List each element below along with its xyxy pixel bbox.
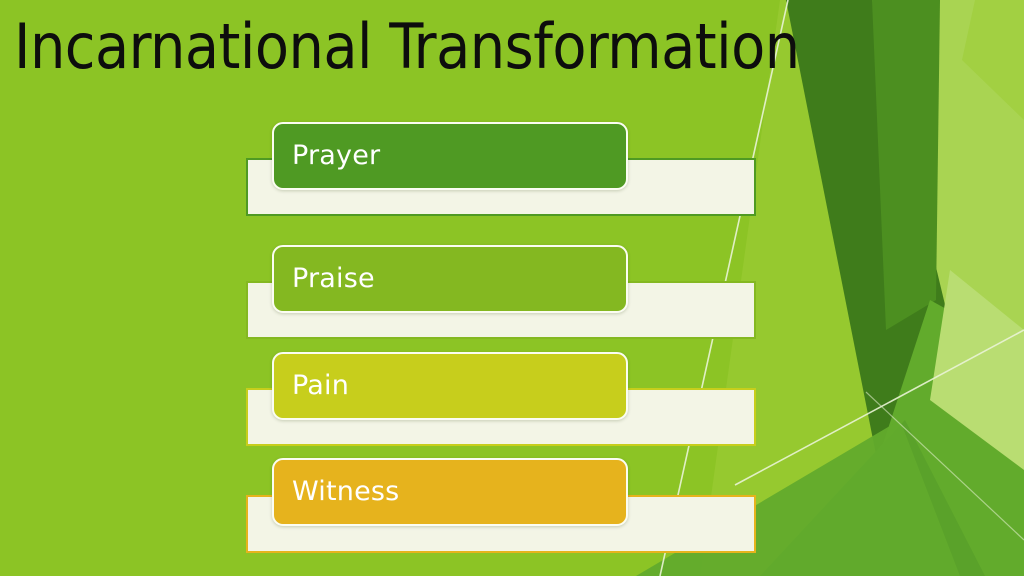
process-step-chip-prayer[interactable]: Prayer: [272, 122, 628, 190]
facet-shape-pale-upper-right: [962, 0, 1024, 120]
process-step-label: Pain: [292, 370, 349, 401]
presentation-slide: Incarnational Transformation Prayer Prai…: [0, 0, 1024, 576]
process-step-label: Prayer: [292, 140, 380, 171]
facet-hairline-2: [735, 330, 1024, 485]
process-row: Praise: [246, 245, 756, 339]
process-row: Witness: [246, 458, 756, 553]
process-step-label: Witness: [292, 476, 399, 507]
process-step-chip-witness[interactable]: Witness: [272, 458, 628, 526]
facet-shape-dark-blade: [786, 0, 1010, 576]
facet-shape-mid-green-lower: [840, 300, 1024, 576]
process-row: Pain: [246, 352, 756, 446]
process-step-label: Praise: [292, 263, 375, 294]
facet-shape-pale-mid-right: [930, 270, 1024, 470]
facet-hairline-3: [866, 392, 1024, 540]
process-row: Prayer: [246, 122, 756, 216]
slide-title: Incarnational Transformation: [14, 8, 914, 86]
facet-shape-mid-green-bottom: [760, 420, 985, 576]
facet-shape-pale-far-right: [905, 0, 1024, 340]
process-step-chip-praise[interactable]: Praise: [272, 245, 628, 313]
process-step-chip-pain[interactable]: Pain: [272, 352, 628, 420]
